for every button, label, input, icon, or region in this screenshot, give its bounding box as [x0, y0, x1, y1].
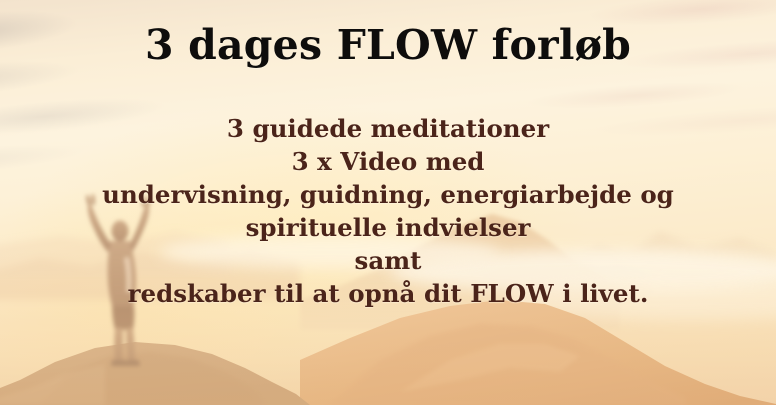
body-line-6: redskaber til at opnå dit FLOW i livet.: [0, 277, 776, 310]
foreground-rock: [0, 342, 310, 405]
raised-arms-figure-silhouette: [86, 194, 151, 366]
mountain-scene: [0, 0, 776, 405]
distant-peaks: [488, 232, 776, 295]
flow-course-poster: 3 dages FLOW forløb 3 guidede meditation…: [0, 0, 776, 405]
page-title: 3 dages FLOW forløb: [0, 24, 776, 67]
near-mountain-slope: [300, 300, 776, 405]
poster-body: 3 guidede meditationer 3 x Video med und…: [0, 112, 776, 310]
cool-cloud-streaks: [0, 0, 776, 405]
warm-cloud-wisps: [0, 0, 776, 405]
mist-band: [160, 235, 776, 320]
mid-ridge: [300, 214, 620, 330]
sun-glow-layer: [0, 0, 776, 405]
body-line-2: 3 x Video med: [0, 145, 776, 178]
body-line-1: 3 guidede meditationer: [0, 112, 776, 145]
body-line-3: undervisning, guidning, energiarbejde og: [0, 178, 776, 211]
body-line-4: spirituelle indvielser: [0, 211, 776, 244]
bottom-vignette: [0, 0, 776, 405]
left-far-ridge: [0, 232, 300, 300]
body-line-5: samt: [0, 244, 776, 277]
